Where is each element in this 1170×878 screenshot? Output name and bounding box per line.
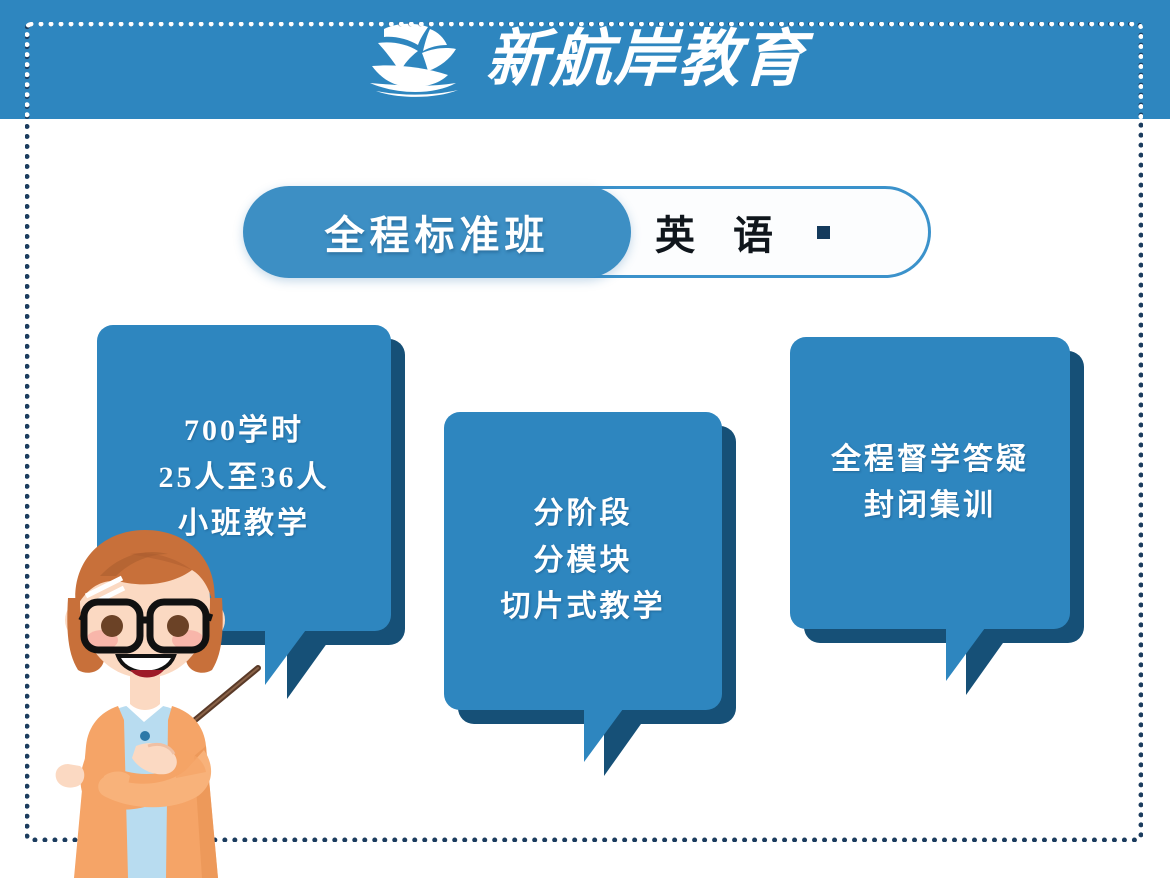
speech-bubble-teaching-method: 分阶段 分模块 切片式教学: [444, 412, 722, 710]
eye-right: [167, 615, 189, 637]
sailboat-book-logo-icon: [364, 19, 468, 101]
poster-canvas: 新航岸教育 英 语 全程标准班 700学时 25人至36人 小班教学 分阶段: [0, 0, 1170, 878]
square-bullet-icon: [817, 226, 830, 239]
class-type-chip[interactable]: 全程标准班: [243, 186, 631, 278]
teacher-with-pointer-illustration: [26, 520, 302, 878]
bubble-line: 全程督学答疑: [831, 437, 1029, 484]
cuff-left: [102, 772, 130, 797]
bubble-line: 分阶段: [534, 491, 633, 538]
header-content: 新航岸教育: [0, 0, 1170, 119]
bubble-line: 700学时: [184, 408, 304, 455]
speech-bubble-supervision-training: 全程督学答疑 封闭集训: [790, 337, 1070, 629]
dress-button: [140, 731, 150, 741]
bubble-line: 切片式教学: [501, 584, 666, 631]
brand-title: 新航岸教育: [485, 29, 807, 91]
header-band: 新航岸教育: [0, 0, 1170, 119]
class-type-label: 全程标准班: [325, 203, 550, 261]
subject-label: 英 语: [649, 203, 787, 261]
course-banner: 英 语 全程标准班: [243, 186, 931, 278]
eye-left: [101, 615, 123, 637]
bubble-line: 25人至36人: [159, 455, 330, 502]
bubble-body: 分阶段 分模块 切片式教学: [444, 412, 722, 710]
hand-left: [56, 764, 85, 788]
bubble-body: 全程督学答疑 封闭集训: [790, 337, 1070, 629]
bubble-line: 分模块: [534, 538, 633, 585]
bubble-line: 封闭集训: [864, 483, 996, 530]
